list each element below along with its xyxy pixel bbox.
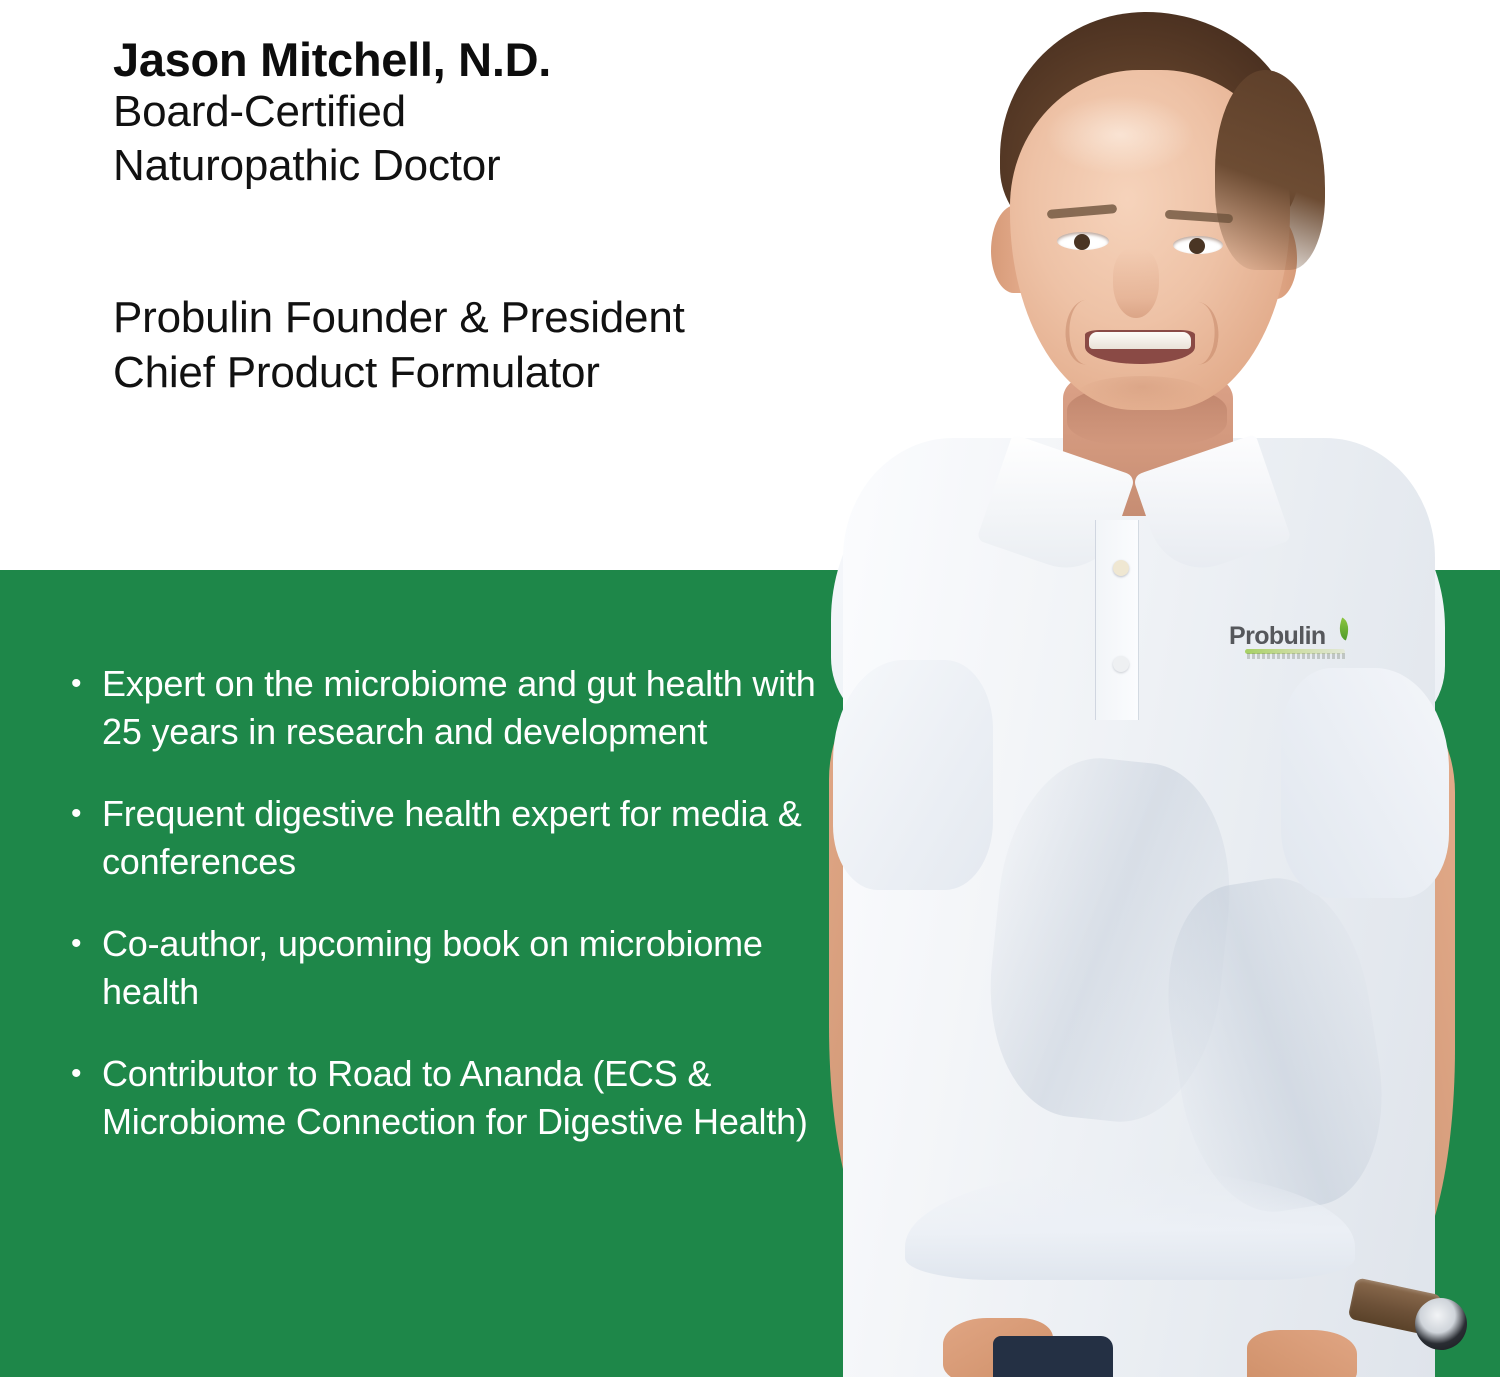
list-item: • Expert on the microbiome and gut healt…	[68, 660, 828, 756]
shirt-button	[1113, 656, 1129, 672]
header-block: Jason Mitchell, N.D. Board-Certified Nat…	[113, 36, 933, 192]
credential-line-1: Board-Certified	[113, 85, 933, 139]
chin-shadow	[1077, 376, 1207, 412]
shirt-placket	[1095, 520, 1139, 720]
nose	[1113, 248, 1159, 318]
logo-tagline	[1247, 653, 1345, 659]
pupil-left	[1074, 234, 1090, 250]
role-line-2: Chief Product Formulator	[113, 346, 973, 401]
teeth	[1089, 332, 1191, 349]
bullet-marker-icon: •	[68, 660, 102, 708]
list-item: • Frequent digestive health expert for m…	[68, 790, 828, 886]
credential-line-2: Naturopathic Doctor	[113, 139, 933, 193]
trouser-pocket	[993, 1336, 1113, 1377]
sleeve-right	[1281, 668, 1449, 898]
bullet-marker-icon: •	[68, 790, 102, 838]
bullet-marker-icon: •	[68, 1050, 102, 1098]
person-figure: Probulin	[795, 0, 1500, 1377]
shirt-button	[1113, 560, 1129, 576]
probulin-logo: Probulin	[1229, 622, 1357, 660]
hand-right	[1247, 1330, 1357, 1377]
hair-side	[1215, 70, 1325, 270]
role-block: Probulin Founder & President Chief Produ…	[113, 291, 973, 400]
credentials-bullet-list: • Expert on the microbiome and gut healt…	[68, 660, 828, 1146]
list-item-text: Co-author, upcoming book on microbiome h…	[102, 920, 828, 1016]
list-item-text: Contributor to Road to Ananda (ECS & Mic…	[102, 1050, 828, 1146]
page-title: Jason Mitchell, N.D.	[113, 36, 933, 85]
bullet-marker-icon: •	[68, 920, 102, 968]
list-item: • Contributor to Road to Ananda (ECS & M…	[68, 1050, 828, 1146]
forehead-highlight	[1045, 95, 1195, 175]
list-item-text: Frequent digestive health expert for med…	[102, 790, 828, 886]
list-item-text: Expert on the microbiome and gut health …	[102, 660, 828, 756]
bio-card: Jason Mitchell, N.D. Board-Certified Nat…	[0, 0, 1500, 1377]
portrait-photo: Probulin	[795, 0, 1500, 1377]
mouth	[1085, 330, 1195, 364]
probulin-logo-text: Probulin	[1229, 622, 1357, 650]
role-line-1: Probulin Founder & President	[113, 291, 973, 346]
list-item: • Co-author, upcoming book on microbiome…	[68, 920, 828, 1016]
pupil-right	[1189, 238, 1205, 254]
sleeve-left	[833, 660, 993, 890]
